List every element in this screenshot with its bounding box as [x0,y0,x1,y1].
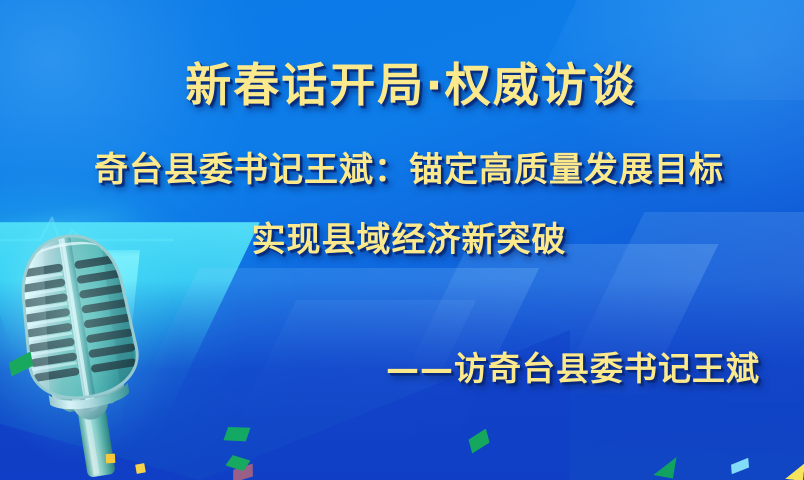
banner-subtitle-line-1: 奇台县委书记王斌：锚定高质量发展目标 [0,148,804,192]
banner-headline: 新春话开局·权威访谈 [0,56,804,114]
text-layer: 新春话开局·权威访谈 奇台县委书记王斌：锚定高质量发展目标 实现县域经济新突破 … [0,0,804,480]
banner-attribution: ——访奇台县委书记王斌 [386,348,760,390]
interview-banner: 新春话开局·权威访谈 奇台县委书记王斌：锚定高质量发展目标 实现县域经济新突破 … [0,0,804,480]
banner-subtitle-line-2: 实现县域经济新突破 [0,218,804,262]
